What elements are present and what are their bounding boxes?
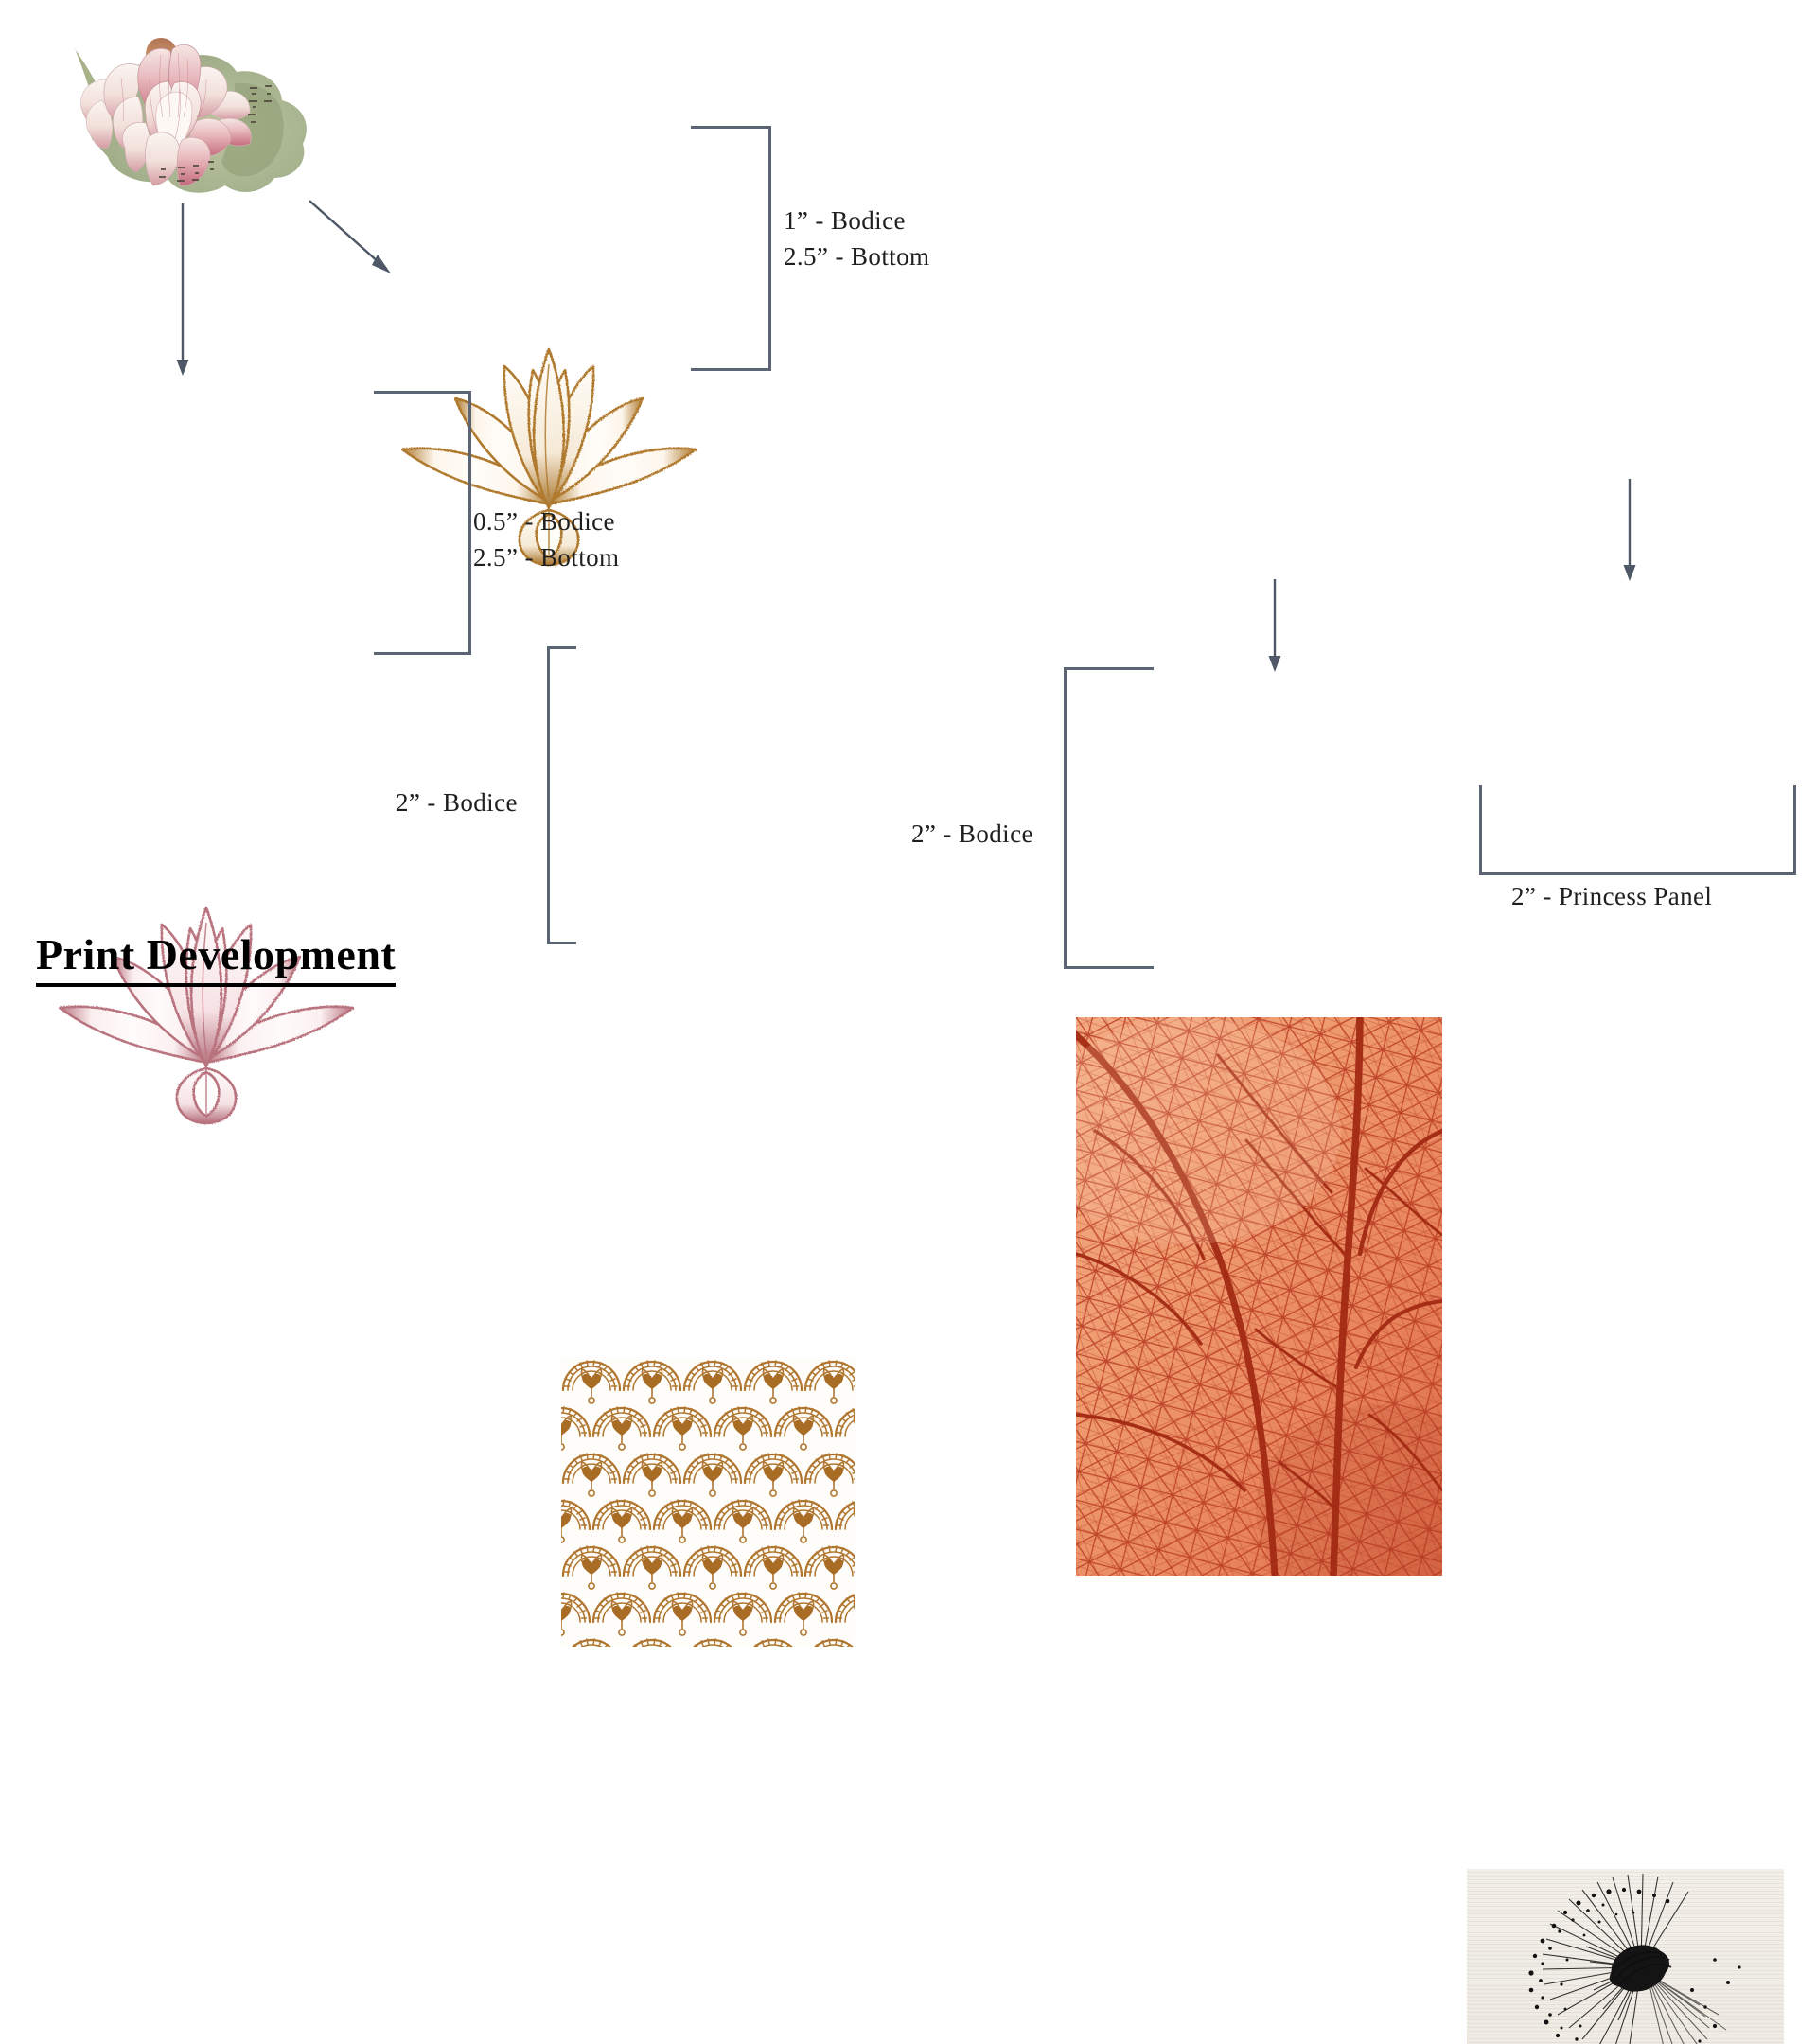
gold-scallop-print-swatch <box>561 1358 855 1647</box>
leaf-macro-photograph <box>1076 1017 1442 1576</box>
bracket-scallop-swatch <box>547 646 576 944</box>
spec-scallop: 2” - Bodice <box>396 784 518 820</box>
spec-rose-lotus: 0.5” - Bodice 2.5” - Bottom <box>473 503 619 576</box>
arrow-leaf-to-bluefan <box>1261 579 1289 674</box>
spec-goldburst-line1: 2” - Princess Panel <box>1511 878 1712 914</box>
page-title: Print Development <box>36 929 396 987</box>
spec-gold-lotus-line1: 1” - Bodice <box>784 203 929 238</box>
spec-bluefan-line1: 2” - Bodice <box>911 816 1033 852</box>
bracket-goldburst-panel <box>1479 785 1796 875</box>
bracket-bluefan-swatch <box>1064 667 1154 969</box>
spec-bluefan: 2” - Bodice <box>911 816 1033 852</box>
rose-lotus-motif <box>17 866 396 1126</box>
dandelion-ink-sketch: shadowscape <box>1467 1869 1784 2044</box>
bracket-gold-lotus <box>691 126 771 371</box>
spec-goldburst: 2” - Princess Panel <box>1511 878 1712 914</box>
spec-gold-lotus: 1” - Bodice 2.5” - Bottom <box>784 203 929 275</box>
spec-gold-lotus-line2: 2.5” - Bottom <box>784 238 929 274</box>
arrow-antique-to-gold <box>308 199 397 284</box>
arrow-dandelion-to-goldburst <box>1615 479 1644 583</box>
bracket-rose-lotus <box>374 391 471 655</box>
arrow-antique-to-rose <box>168 203 197 379</box>
spec-scallop-line1: 2” - Bodice <box>396 784 518 820</box>
antique-lotus-painting <box>55 26 348 216</box>
spec-rose-lotus-line2: 2.5” - Bottom <box>473 539 619 575</box>
spec-rose-lotus-line1: 0.5” - Bodice <box>473 503 619 539</box>
